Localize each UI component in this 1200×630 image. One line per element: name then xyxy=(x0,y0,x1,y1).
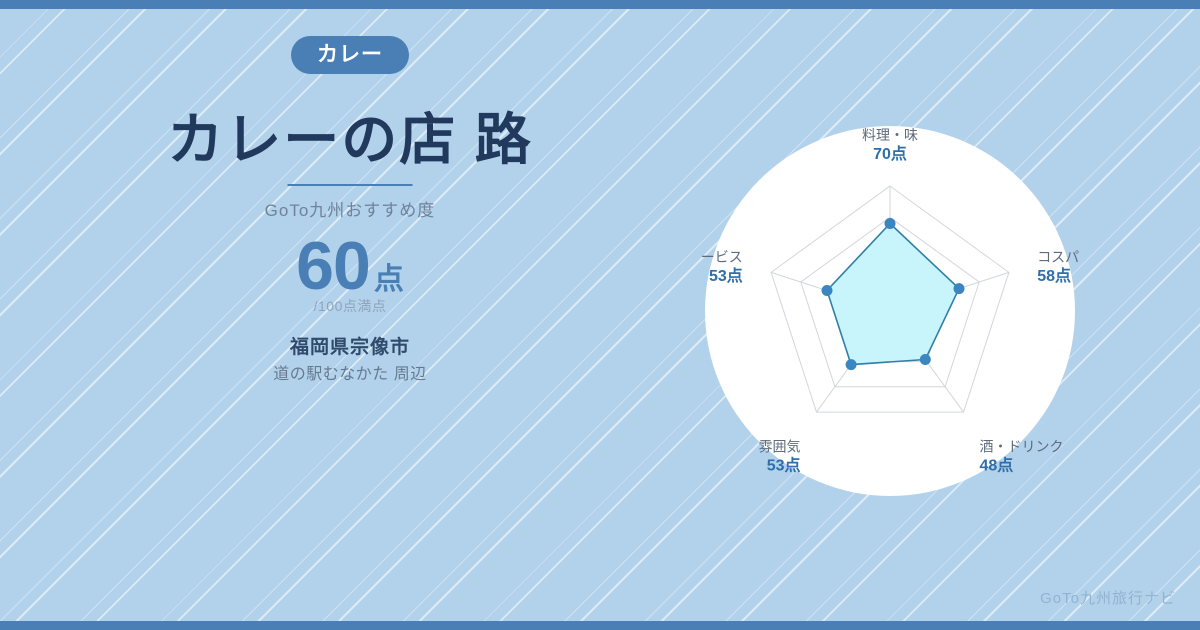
shop-info-panel: カレー カレーの店 路 GoTo九州おすすめ度 60 点 /100点満点 福岡県… xyxy=(0,0,700,630)
radar-axis-name: 酒・ドリンク xyxy=(980,439,1064,455)
radar-data-point xyxy=(885,218,896,229)
radar-axis-name: 雰囲気 xyxy=(759,439,801,455)
radar-axis-name: 料理・味 xyxy=(862,127,918,143)
category-badge: カレー xyxy=(291,36,409,74)
radar-data-point xyxy=(822,285,833,296)
radar-axis-name: サービス xyxy=(700,249,743,265)
review-score-card: カレー カレーの店 路 GoTo九州おすすめ度 60 点 /100点満点 福岡県… xyxy=(0,0,1200,630)
radar-axis-score: 58点 xyxy=(1037,266,1071,285)
radar-data-point xyxy=(920,354,931,365)
page-title: カレーの店 路 xyxy=(0,108,700,172)
location-area: 道の駅むなかた 周辺 xyxy=(0,360,700,384)
radar-chart-svg: 料理・味70点コスパ58点酒・ドリンク48点雰囲気53点サービス53点 xyxy=(700,120,1080,510)
score-max-note: /100点満点 xyxy=(0,296,700,316)
radar-axis-score: 53点 xyxy=(709,266,743,285)
overall-score: 60 点 xyxy=(0,232,700,300)
radar-data-point xyxy=(846,359,857,370)
radar-data-point xyxy=(954,283,965,294)
radar-axis-score: 70点 xyxy=(873,144,907,163)
score-caption: GoTo九州おすすめ度 xyxy=(0,196,700,221)
site-watermark: GoTo九州旅行ナビ xyxy=(1040,587,1176,608)
radar-chart: 料理・味70点コスパ58点酒・ドリンク48点雰囲気53点サービス53点 xyxy=(700,120,1080,510)
overall-score-value: 60 xyxy=(296,232,370,300)
radar-axis-score: 48点 xyxy=(980,456,1014,475)
radar-axis-score: 53点 xyxy=(767,456,801,475)
title-divider xyxy=(288,184,413,186)
radar-axis-name: コスパ xyxy=(1037,249,1079,265)
location-city: 福岡県宗像市 xyxy=(0,332,700,359)
overall-score-unit: 点 xyxy=(374,265,404,295)
